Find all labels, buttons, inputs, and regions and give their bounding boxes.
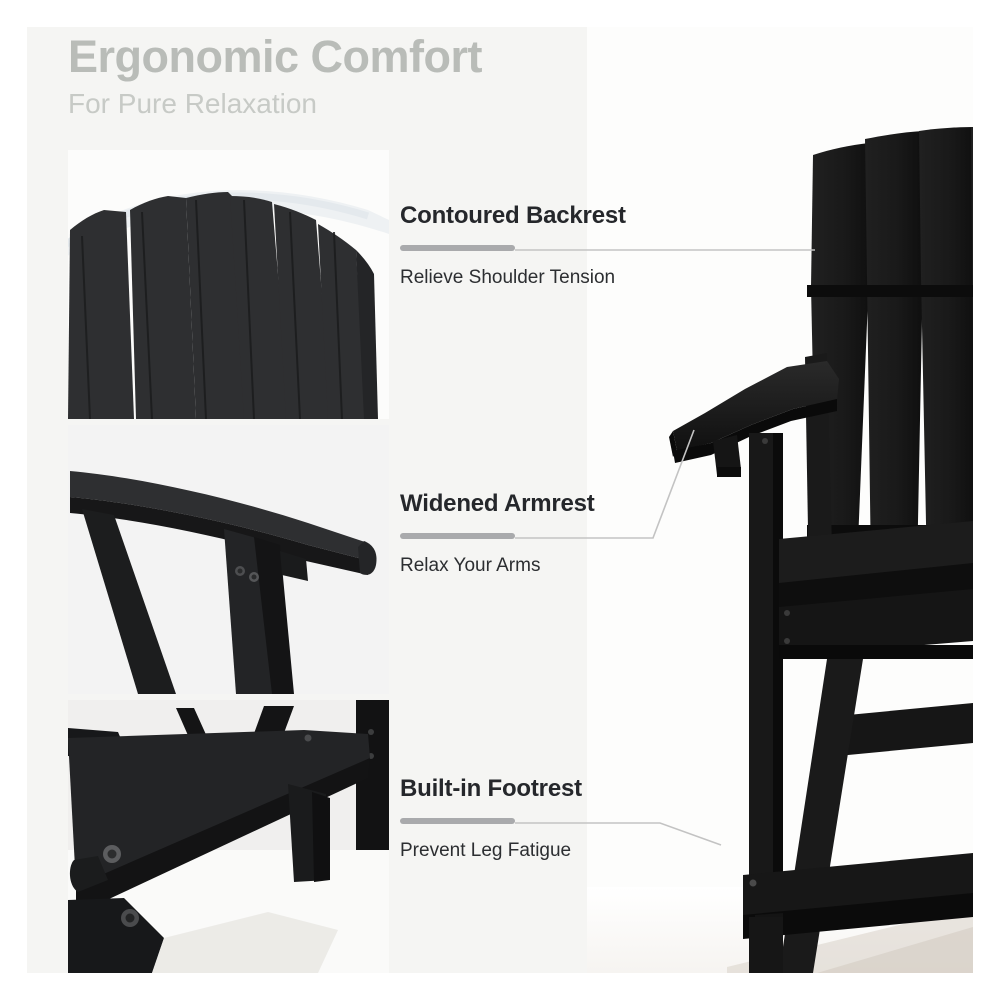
feature-block-footrest: Built-in Footrest Prevent Leg Fatigue — [400, 775, 700, 863]
feature-title-footrest: Built-in Footrest — [400, 775, 700, 804]
infographic-canvas: Ergonomic Comfort For Pure Relaxation — [27, 27, 973, 973]
feature-rule-armrest — [400, 533, 515, 539]
feature-title-backrest: Contoured Backrest — [400, 202, 700, 231]
feature-subtitle-backrest: Relieve Shoulder Tension — [400, 266, 700, 290]
feature-rule-footrest — [400, 818, 515, 824]
footrest-closeup-photo — [68, 700, 389, 973]
feature-title-armrest: Widened Armrest — [400, 490, 700, 519]
product-feature-infographic: Ergonomic Comfort For Pure Relaxation — [0, 0, 1000, 1000]
thumbnail-footrest[interactable] — [68, 700, 389, 973]
armrest-closeup-photo — [68, 425, 389, 694]
thumbnail-armrest[interactable] — [68, 425, 389, 694]
feature-subtitle-armrest: Relax Your Arms — [400, 554, 700, 578]
feature-block-backrest: Contoured Backrest Relieve Shoulder Tens… — [400, 202, 700, 290]
feature-rule-backrest — [400, 245, 515, 251]
backrest-closeup-photo — [68, 150, 389, 419]
feature-block-armrest: Widened Armrest Relax Your Arms — [400, 490, 700, 578]
page-subtitle: For Pure Relaxation — [68, 87, 628, 121]
heading-block: Ergonomic Comfort For Pure Relaxation — [68, 31, 628, 120]
feature-subtitle-footrest: Prevent Leg Fatigue — [400, 839, 700, 863]
thumbnail-backrest[interactable] — [68, 150, 389, 419]
page-title: Ergonomic Comfort — [68, 31, 628, 83]
